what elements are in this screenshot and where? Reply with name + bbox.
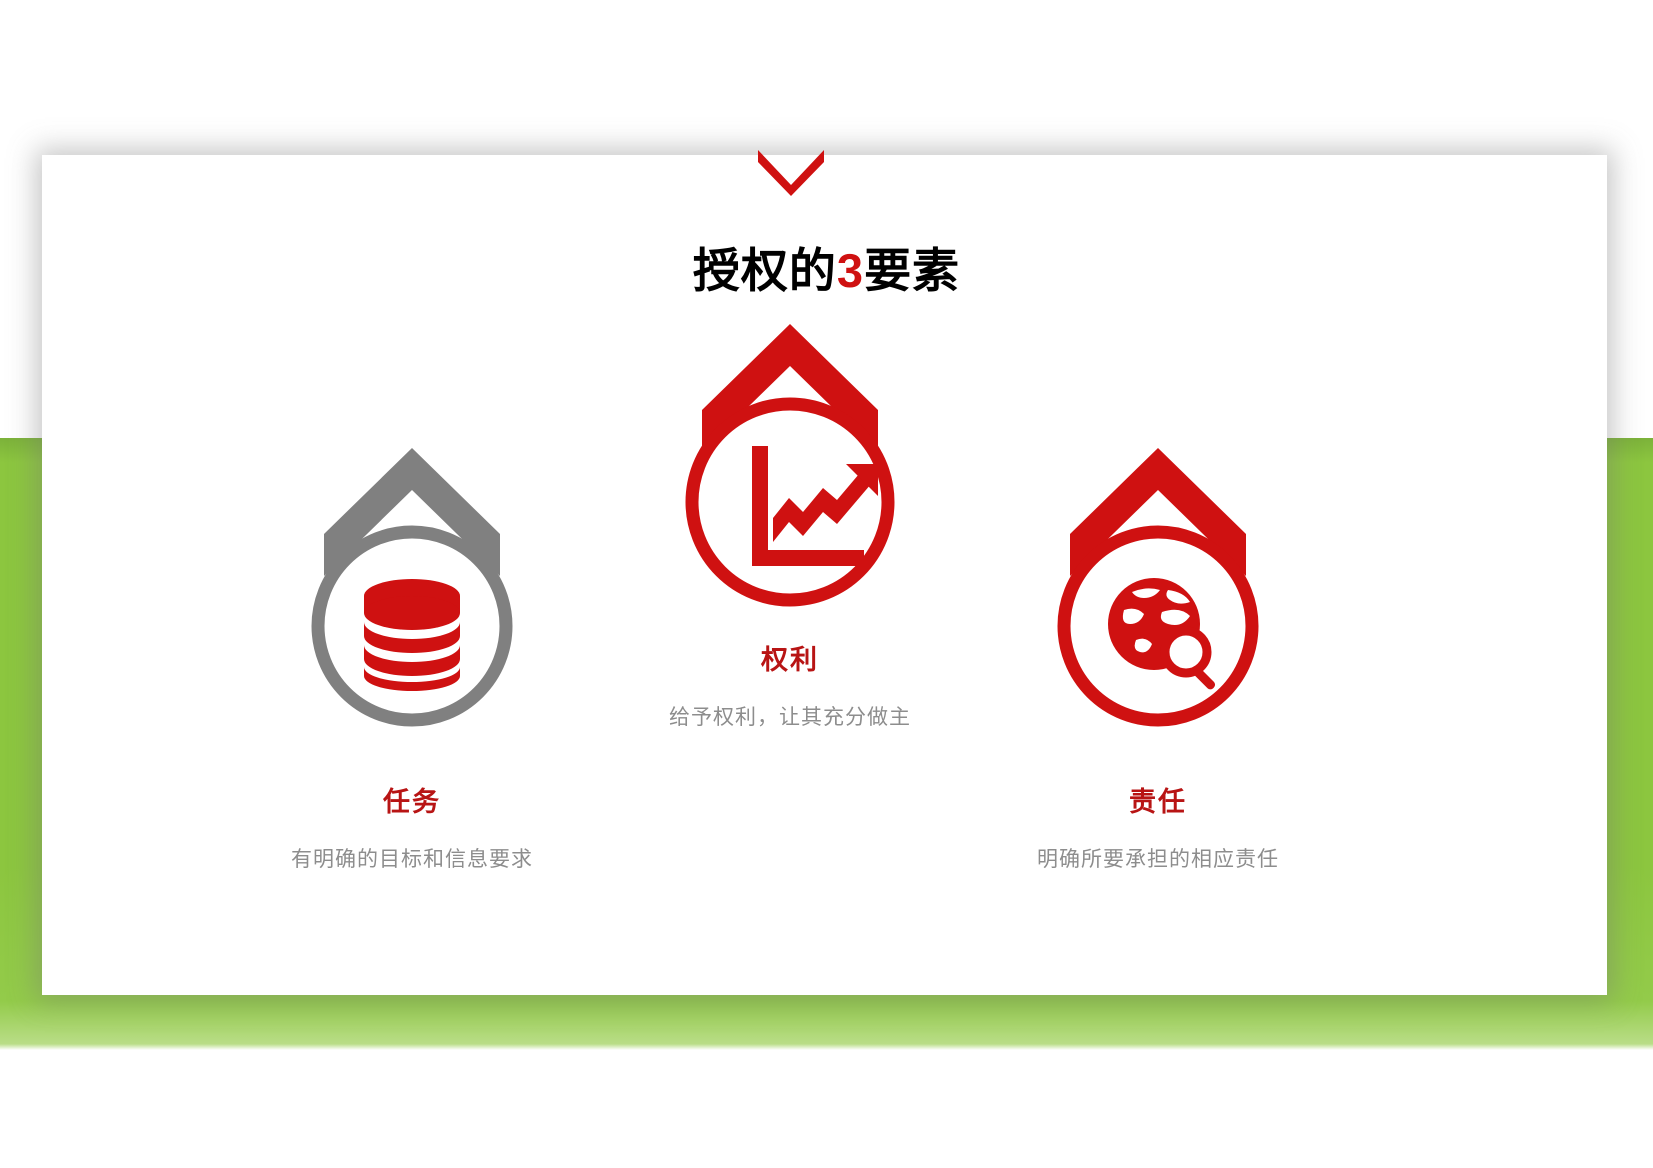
- page-title: 授权的3要素: [0, 232, 1653, 301]
- mission-label: 任务: [202, 780, 622, 819]
- title-prefix: 授权的: [693, 244, 837, 297]
- mission-badge: [202, 446, 622, 736]
- responsibility-badge: [948, 446, 1368, 736]
- coins-stack-icon: [282, 446, 542, 736]
- slide-canvas: 授权的3要素 任务 有明确的目标和信息要求: [0, 0, 1653, 1168]
- column-authority[interactable]: 权利 给予权利，让其充分做主: [580, 322, 1000, 731]
- chevron-down-icon: [756, 150, 826, 196]
- authority-badge: [580, 322, 1000, 612]
- title-suffix: 要素: [864, 244, 960, 297]
- responsibility-description: 明确所要承担的相应责任: [948, 843, 1368, 873]
- responsibility-label: 责任: [948, 780, 1368, 819]
- title-accent-number: 3: [837, 244, 864, 297]
- mission-description: 有明确的目标和信息要求: [202, 843, 622, 873]
- authority-description: 给予权利，让其充分做主: [580, 701, 1000, 731]
- globe-search-icon: [1028, 446, 1288, 736]
- authority-label: 权利: [580, 638, 1000, 677]
- growth-chart-icon: [660, 322, 920, 612]
- column-mission[interactable]: 任务 有明确的目标和信息要求: [202, 446, 622, 873]
- column-responsibility[interactable]: 责任 明确所要承担的相应责任: [948, 446, 1368, 873]
